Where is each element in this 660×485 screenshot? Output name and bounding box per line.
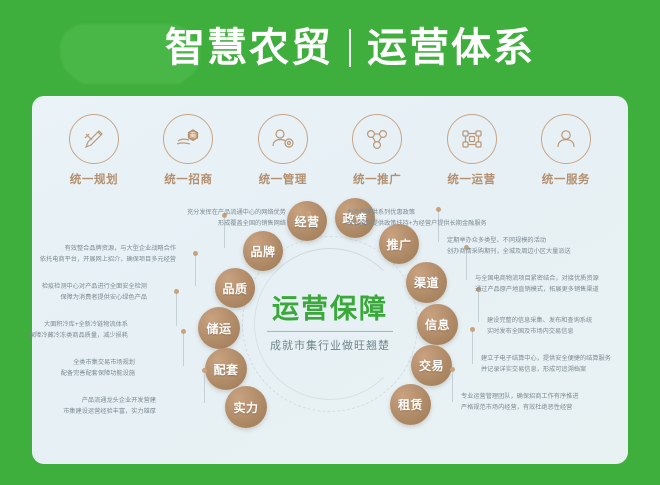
text-line-2: 开业初期提供政策扶持+为经营户提供长期金融服务 <box>347 219 487 230</box>
bubble-label: 实力 <box>233 399 258 416</box>
bubble-租赁[interactable]: 租赁 <box>390 384 431 425</box>
bubble-经营[interactable]: 经营 <box>287 201 327 241</box>
text-line-2: 配备完善配套保障功能设施 <box>61 369 135 380</box>
text-block-储运: 大面积冷库+全新冷链物流体系 保障冷藏冷冻类商品质量，减少损耗 <box>29 320 128 342</box>
text-block-经营: 充分发挥在产品流通中心的网络优势 形成覆盖全国的销售网络 <box>187 208 286 230</box>
center-label-group: 运营保障 成就市集行业做旺翘楚 <box>235 295 425 353</box>
person-icon <box>541 114 591 164</box>
text-line-1: 检疫检测中心对产品进行全面安全检测 <box>42 282 147 293</box>
text-line-1: 全类市集交易市场规划 <box>61 358 135 369</box>
bubble-label: 信息 <box>425 316 450 333</box>
top-icon-label: 统一规划 <box>70 171 118 187</box>
top-icon-item-planning[interactable]: 统一规划 <box>52 114 136 198</box>
center-divider <box>267 331 393 333</box>
bubble-label: 品牌 <box>250 243 275 260</box>
text-line-2: 市集建设运营经验丰富，实力雄厚 <box>63 407 156 418</box>
text-line-1: 定期举办众多类型、不同规模的活动 <box>447 236 571 247</box>
bubble-推广[interactable]: 推广 <box>379 224 419 264</box>
svg-text:商: 商 <box>190 131 196 139</box>
page-subtitle: 运营体系 <box>367 28 535 68</box>
bubble-品牌[interactable]: 品牌 <box>243 231 283 271</box>
text-line-2: 保障为消费者提供安心绿色产品 <box>42 293 147 304</box>
center-title: 运营保障 <box>235 295 425 325</box>
person-gear-icon <box>258 114 308 164</box>
text-block-信息: 建设完整的信息采集、发布和查询系统 实时发布全国及市场内交易信息 <box>487 316 592 338</box>
text-block-配套: 全类市集交易市场规划 配备完善配套保障功能设施 <box>61 358 135 380</box>
text-line-1: 为商户提供系列优惠政策 <box>347 208 487 219</box>
text-line-1: 专业运营管理团队，确保招商工作有序推进 <box>461 392 579 403</box>
bubble-label: 推广 <box>386 236 411 253</box>
text-line-2: 并记录详实交易信息，形成可追溯档案 <box>481 365 611 376</box>
text-line-2: 实时发布全国及市场内交易信息 <box>487 327 592 338</box>
title-divider <box>349 29 351 67</box>
text-line-2: 保障冷藏冷冻类商品质量，减少损耗 <box>29 331 128 342</box>
text-line-2: 严格规范市场内经营，有效杜绝恶性经营 <box>461 403 579 414</box>
text-line-1: 有效整合品牌资源，与大型企业战略合作 <box>40 244 176 255</box>
text-line-1: 与全国电商物流项目紧密结合，对接优质资源 <box>475 274 599 285</box>
page-header: 智慧农贸 运营体系 <box>0 0 660 96</box>
bubble-label: 租赁 <box>398 396 423 413</box>
stem-储运 <box>176 294 177 326</box>
node-grid-icon <box>447 114 497 164</box>
text-block-品质: 检疫检测中心对产品进行全面安全检测 保障为消费者提供安心绿色产品 <box>42 282 147 304</box>
text-line-1: 建设完整的信息采集、发布和查询系统 <box>487 316 592 327</box>
text-line-1: 建立子电子结算中心，提供安全便捷的结算服务 <box>481 354 611 365</box>
center-subtitle: 成就市集行业做旺翘楚 <box>235 337 425 353</box>
hand-商-badge-icon: 商 <box>163 114 213 164</box>
top-icon-label: 统一运营 <box>447 171 495 187</box>
text-line-1: 大面积冷库+全新冷链物流体系 <box>29 320 128 331</box>
top-icon-row: 统一规划 商 统一招商 <box>52 114 608 198</box>
stem-租赁 <box>452 372 453 402</box>
bubble-交易[interactable]: 交易 <box>411 345 452 386</box>
text-block-推广: 定期举办众多类型、不同规模的活动 创办商情采购期刊，全城及周边小区大量派送 <box>447 236 571 258</box>
top-icon-label: 统一管理 <box>259 171 307 187</box>
top-icon-item-service[interactable]: 统一服务 <box>524 114 608 198</box>
top-icon-label: 统一推广 <box>353 171 401 187</box>
text-line-1: 充分发挥在产品流通中心的网络优势 <box>187 208 286 219</box>
text-line-2: 创办商情采购期刊，全城及周边小区大量派送 <box>447 247 571 258</box>
text-block-品牌: 有效整合品牌资源，与大型企业战略合作 依托电商平台，开展网上招介，确保项目多元经… <box>40 244 176 266</box>
bubble-label: 交易 <box>419 357 444 374</box>
content-card: 统一规划 商 统一招商 <box>32 96 628 464</box>
top-icon-item-promotion[interactable]: 统一推广 <box>335 114 419 198</box>
text-line-2: 依托电商平台，开展网上招介，确保项目多元经营 <box>40 255 176 266</box>
top-icon-item-investment[interactable]: 商 统一招商 <box>146 114 230 198</box>
bubble-label: 配套 <box>213 361 238 378</box>
stem-品质 <box>195 256 196 286</box>
text-block-政策: 为商户提供系列优惠政策 开业初期提供政策扶持+为经营户提供长期金融服务 <box>347 208 487 230</box>
pencil-ruler-icon <box>69 114 119 164</box>
top-icon-label: 统一招商 <box>164 171 212 187</box>
text-block-渠道: 与全国电商物流项目紧密结合，对接优质资源 通过产品原产地直销模式，拓展更多销售渠… <box>475 274 599 296</box>
text-line-2: 通过产品原产地直销模式，拓展更多销售渠道 <box>475 285 599 296</box>
bubble-渠道[interactable]: 渠道 <box>406 262 447 303</box>
stem-实力 <box>204 373 205 403</box>
bubble-信息[interactable]: 信息 <box>417 304 458 345</box>
infographic-root: 智慧农贸 运营体系 统一规划 <box>0 0 660 485</box>
bubble-label: 渠道 <box>414 274 439 291</box>
header-title-group: 智慧农贸 运营体系 <box>165 28 535 68</box>
bubble-品质[interactable]: 品质 <box>215 268 255 308</box>
text-line-2: 形成覆盖全国的销售网络 <box>187 219 286 230</box>
page-title: 智慧农贸 <box>165 28 333 68</box>
stem-交易 <box>472 332 473 364</box>
stem-配套 <box>183 334 184 366</box>
text-line-1: 产品流通龙头企业开发营建 <box>63 396 156 407</box>
share-network-icon <box>352 114 402 164</box>
text-block-实力: 产品流通龙头企业开发营建 市集建设运营经验丰富，实力雄厚 <box>63 396 156 418</box>
bubble-储运[interactable]: 储运 <box>198 307 240 349</box>
top-icon-item-operation[interactable]: 统一运营 <box>430 114 514 198</box>
top-icon-label: 统一服务 <box>542 171 590 187</box>
top-icon-item-management[interactable]: 统一管理 <box>241 114 325 198</box>
text-block-租赁: 专业运营管理团队，确保招商工作有序推进 严格规范市场内经营，有效杜绝恶性经营 <box>461 392 579 414</box>
bubble-label: 品质 <box>222 280 247 297</box>
bubble-实力[interactable]: 实力 <box>225 386 267 428</box>
bubble-label: 储运 <box>206 320 231 337</box>
bubble-配套[interactable]: 配套 <box>205 348 247 390</box>
text-block-交易: 建立子电子结算中心，提供安全便捷的结算服务 并记录详实交易信息，形成可追溯档案 <box>481 354 611 376</box>
stem-信息 <box>478 292 479 322</box>
